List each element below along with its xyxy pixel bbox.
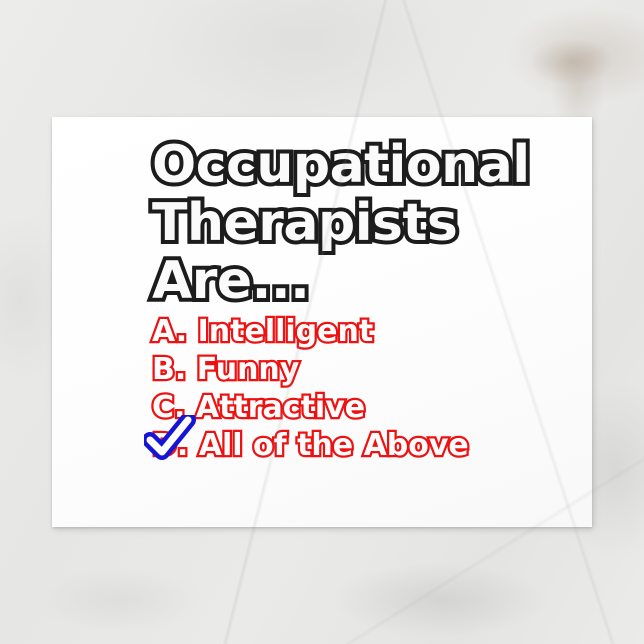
option-d: D. All of the Above: [152, 431, 582, 461]
postcard[interactable]: Occupational Therapists Are... A. Intell…: [52, 117, 592, 527]
option-a: A. Intelligent: [152, 317, 582, 347]
postcard-face: Occupational Therapists Are... A. Intell…: [52, 117, 592, 527]
option-d-label: D. All of the Above: [152, 428, 469, 463]
marble-background: Occupational Therapists Are... A. Intell…: [0, 0, 644, 644]
option-c: C. Attractive: [152, 393, 582, 423]
heading-line-1: Occupational: [152, 139, 582, 191]
option-b: B. Funny: [152, 355, 582, 385]
heading-line-3: Are...: [152, 255, 582, 307]
heading-line-2: Therapists: [152, 197, 582, 249]
card-text-block: Occupational Therapists Are... A. Intell…: [152, 139, 582, 461]
